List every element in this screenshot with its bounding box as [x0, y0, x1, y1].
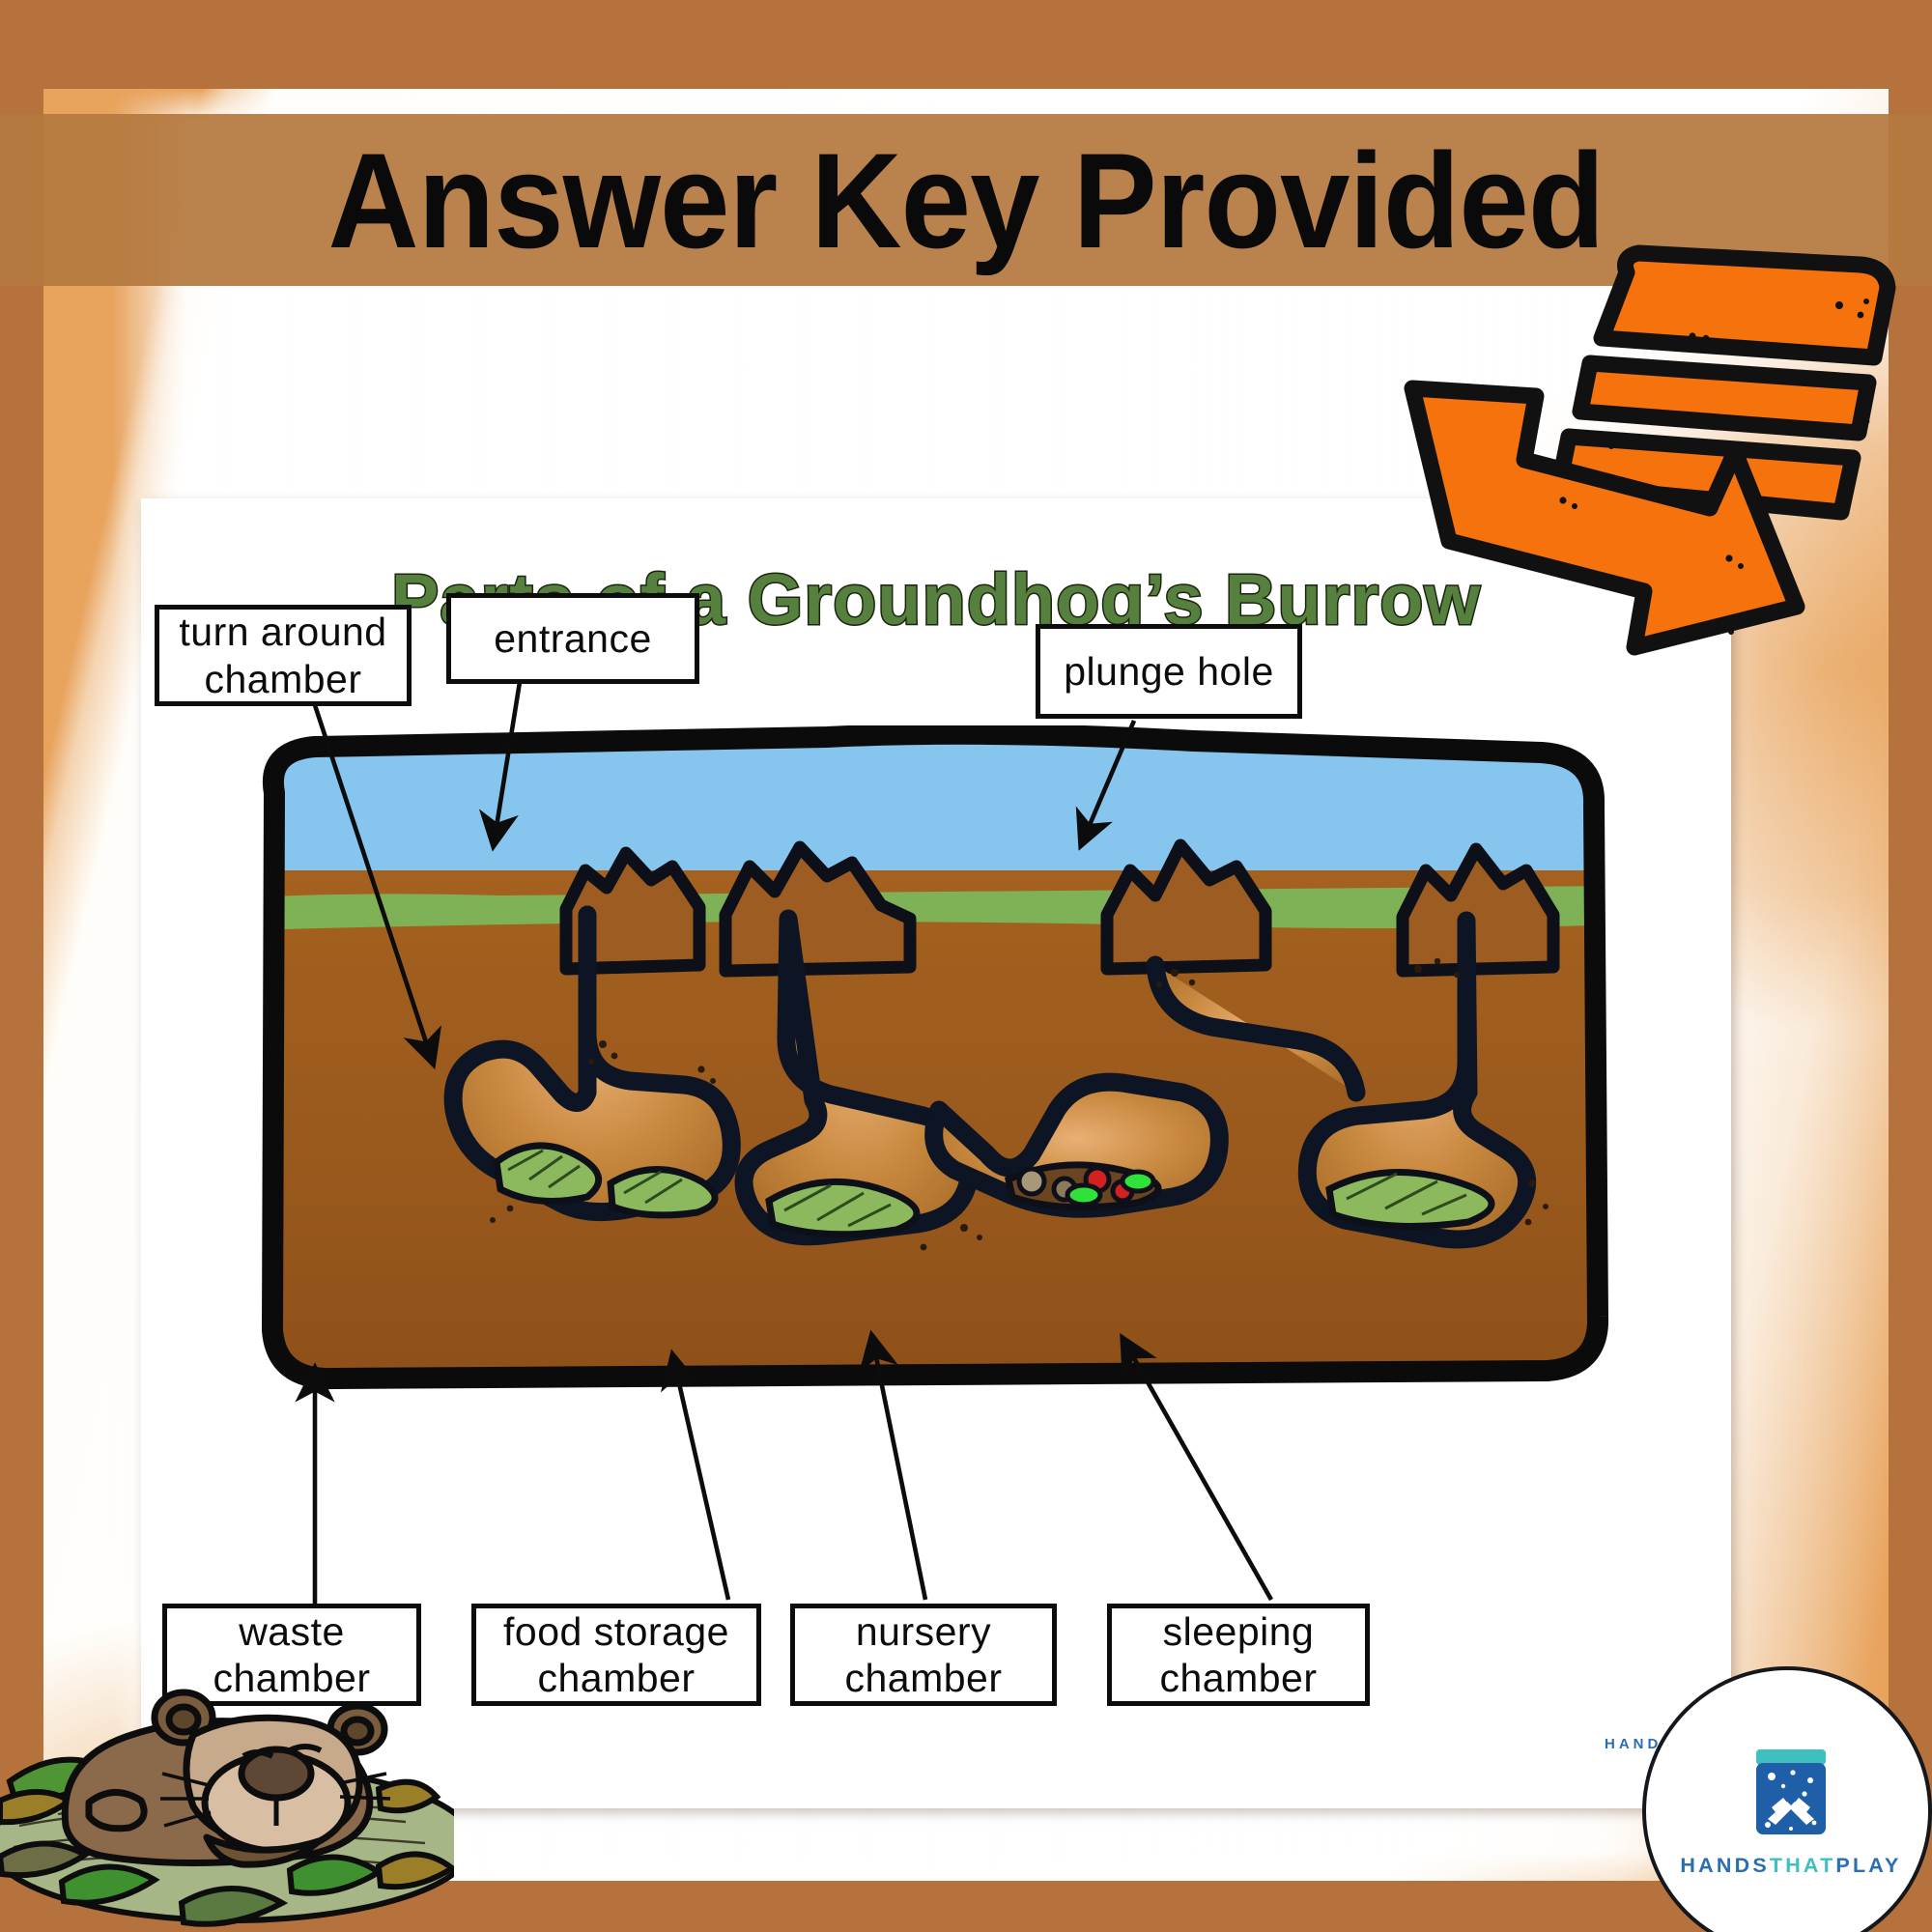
orange-down-right-arrow-icon — [1391, 222, 1932, 676]
label-food-storage-chamber[interactable]: food storage chamber — [471, 1604, 761, 1706]
leader-nursery — [873, 1343, 925, 1600]
brand-logo-text: HANDSTHATPLAY — [1646, 1854, 1932, 1878]
label-text: plunge hole — [1064, 648, 1274, 695]
sleeping-groundhog-illustration — [0, 1584, 454, 1932]
leader-plunge-hole — [1084, 721, 1134, 838]
leader-turn-around — [315, 705, 431, 1057]
logo-text-that: THAT — [1770, 1854, 1836, 1877]
label-text: entrance — [494, 615, 652, 662]
label-text: food storage chamber — [503, 1608, 729, 1702]
leader-sleeping — [1126, 1345, 1271, 1600]
label-sleeping-chamber[interactable]: sleeping chamber — [1107, 1604, 1370, 1706]
label-text: sleeping chamber — [1159, 1608, 1317, 1702]
label-plunge-hole[interactable]: plunge hole — [1036, 624, 1302, 719]
groundhog-body — [65, 1692, 390, 1864]
label-text: turn around chamber — [179, 609, 386, 702]
logo-text-hands: HANDS — [1680, 1854, 1769, 1877]
leader-entrance — [495, 682, 520, 838]
brand-logo-badge[interactable]: HANDSTHATPLAY — [1642, 1666, 1932, 1932]
label-nursery-chamber[interactable]: nursery chamber — [790, 1604, 1057, 1706]
label-text: nursery chamber — [844, 1608, 1002, 1702]
leader-food-storage — [674, 1362, 728, 1600]
poster-canvas: Answer Key Provided Parts of a Groundhog… — [0, 0, 1932, 1932]
label-entrance[interactable]: entrance — [446, 593, 699, 684]
logo-text-play: PLAY — [1835, 1854, 1901, 1877]
sensory-jar-icon — [1754, 1747, 1828, 1836]
label-turn-around-chamber[interactable]: turn around chamber — [155, 605, 412, 706]
